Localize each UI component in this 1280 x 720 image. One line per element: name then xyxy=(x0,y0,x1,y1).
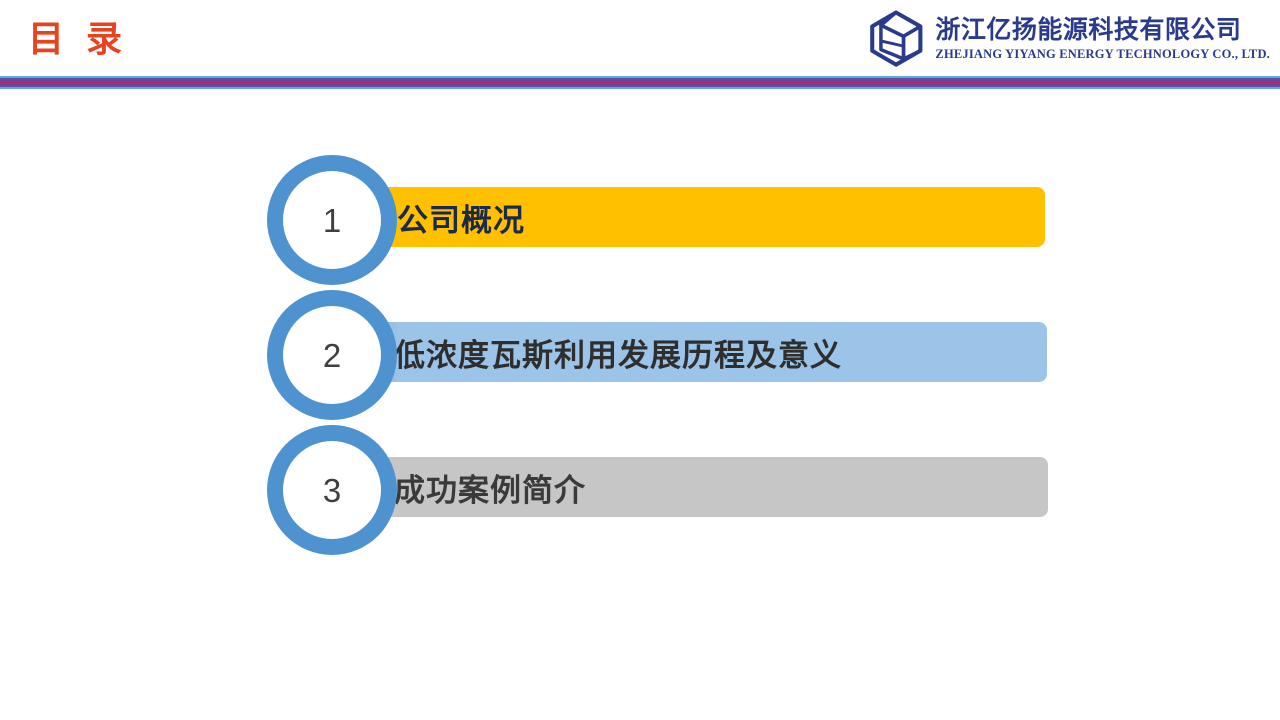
toc-number-3: 3 xyxy=(323,474,341,507)
toc-number-2: 2 xyxy=(323,339,341,372)
company-name-cn: 浙江亿扬能源科技有限公司 xyxy=(935,15,1241,45)
toc-bar-1[interactable]: 公司概况 xyxy=(372,187,1045,247)
toc-number-1: 1 xyxy=(323,204,341,237)
company-logo: 浙江亿扬能源科技有限公司 ZHEJIANG YIYANG ENERGY TECH… xyxy=(867,6,1270,70)
toc-label-2: 低浓度瓦斯利用发展历程及意义 xyxy=(394,330,842,375)
presentation-slide: 目 录 浙江亿扬能源科技有限公司 ZHEJIANG YIYANG ENERGY … xyxy=(0,0,1280,720)
slide-header: 目 录 浙江亿扬能源科技有限公司 ZHEJIANG YIYANG ENERGY … xyxy=(0,0,1280,80)
hexagon-logo-icon xyxy=(867,9,925,67)
table-of-contents: 公司概况 1 低浓度瓦斯利用发展历程及意义 2 成功案例简介 xyxy=(0,150,1280,555)
header-divider-bar xyxy=(0,76,1280,89)
toc-item-1[interactable]: 公司概况 1 xyxy=(0,150,1280,285)
toc-number-ring-1: 1 xyxy=(267,155,397,285)
toc-number-ring-3: 3 xyxy=(267,425,397,555)
toc-number-ring-2: 2 xyxy=(267,290,397,420)
toc-item-2[interactable]: 低浓度瓦斯利用发展历程及意义 2 xyxy=(0,285,1280,420)
toc-ring-inner-2: 2 xyxy=(283,306,381,404)
toc-bar-3[interactable]: 成功案例简介 xyxy=(372,457,1048,517)
company-name-en: ZHEJIANG YIYANG ENERGY TECHNOLOGY CO., L… xyxy=(935,46,1270,62)
toc-bar-2[interactable]: 低浓度瓦斯利用发展历程及意义 xyxy=(372,322,1047,382)
toc-label-3: 成功案例简介 xyxy=(394,465,586,510)
toc-label-1: 公司概况 xyxy=(397,195,525,240)
page-title: 目 录 xyxy=(28,16,128,62)
logo-text-block: 浙江亿扬能源科技有限公司 ZHEJIANG YIYANG ENERGY TECH… xyxy=(935,15,1270,62)
toc-ring-inner-3: 3 xyxy=(283,441,381,539)
toc-item-3[interactable]: 成功案例简介 3 xyxy=(0,420,1280,555)
toc-ring-inner-1: 1 xyxy=(283,171,381,269)
